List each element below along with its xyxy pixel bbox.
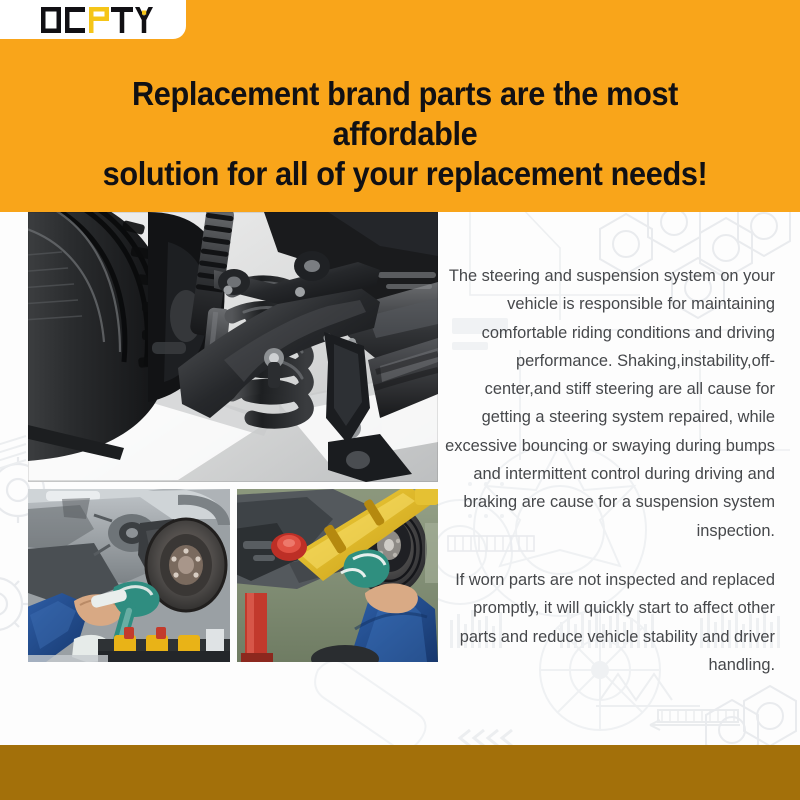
mechanic-brake-rotor-photo bbox=[28, 489, 230, 662]
body-copy: The steering and suspension system on yo… bbox=[440, 262, 775, 679]
headline-line-1: Replacement brand parts are the most aff… bbox=[132, 75, 678, 152]
car-suspension-closeup-photo bbox=[28, 212, 438, 482]
mechanic-under-lift-photo bbox=[237, 489, 438, 662]
page-title: Replacement brand parts are the most aff… bbox=[66, 74, 745, 194]
poster-canvas: Replacement brand parts are the most aff… bbox=[0, 0, 800, 800]
logo-ocpty[interactable] bbox=[41, 7, 153, 33]
headline-line-2: solution for all of your replacement nee… bbox=[66, 154, 745, 194]
body-paragraph-2: If worn parts are not inspected and repl… bbox=[440, 566, 775, 679]
header-band: Replacement brand parts are the most aff… bbox=[0, 0, 800, 212]
logo-panel bbox=[0, 0, 186, 39]
body-paragraph-1: The steering and suspension system on yo… bbox=[440, 262, 775, 545]
footer-band bbox=[0, 745, 800, 800]
logo-mark-icon bbox=[41, 7, 153, 33]
